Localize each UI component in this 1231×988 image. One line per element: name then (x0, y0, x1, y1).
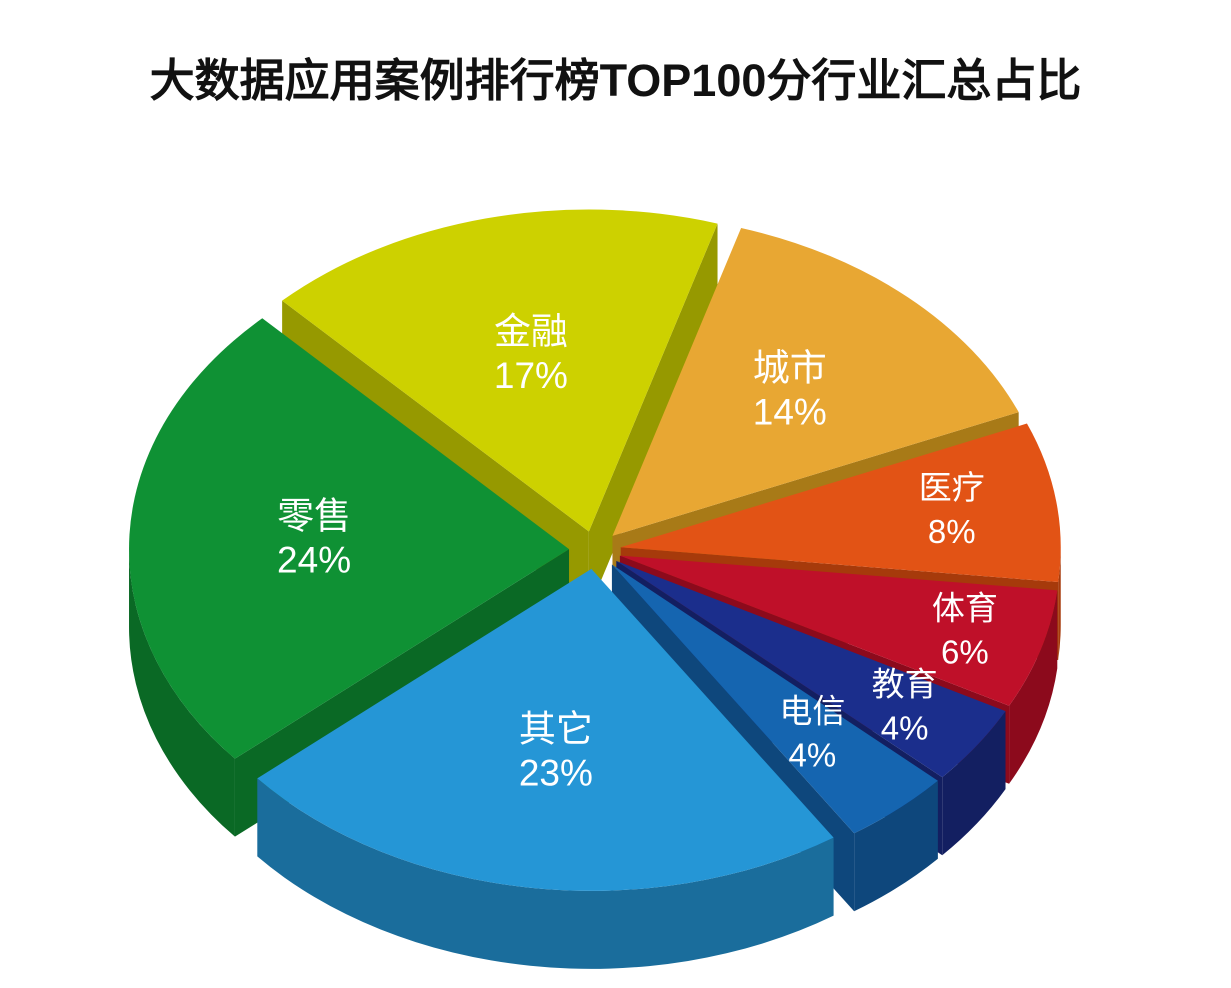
pie-chart-figure: 大数据应用案例排行榜TOP100分行业汇总占比 城市14%医疗8%体育6%教育4… (0, 0, 1231, 988)
slice-label-name-零售: 零售 (277, 495, 351, 536)
slice-label-value-金融: 17% (494, 355, 568, 396)
slice-label-name-城市: 城市 (753, 348, 827, 389)
slice-label-name-体育: 体育 (932, 589, 998, 626)
page-title: 大数据应用案例排行榜TOP100分行业汇总占比 (0, 44, 1231, 109)
pie-chart-svg: 城市14%医疗8%体育6%教育4%电信4%其它23%零售24%金融17% (95, 160, 1135, 980)
slice-label-name-电信: 电信 (779, 692, 845, 729)
pie-chart-canvas: 城市14%医疗8%体育6%教育4%电信4%其它23%零售24%金融17% (95, 160, 1135, 980)
slice-label-value-城市: 14% (753, 392, 827, 433)
slice-label-value-教育: 4% (881, 709, 929, 746)
slice-label-value-医疗: 8% (928, 513, 976, 550)
slice-label-name-教育: 教育 (872, 665, 938, 702)
slice-label-name-金融: 金融 (494, 311, 568, 352)
slice-label-value-其它: 23% (519, 753, 593, 794)
slice-label-value-电信: 4% (789, 736, 837, 773)
slice-label-value-体育: 6% (941, 633, 989, 670)
slice-label-value-零售: 24% (277, 539, 351, 580)
slice-label-name-其它: 其它 (519, 709, 593, 750)
slice-label-name-医疗: 医疗 (919, 469, 985, 506)
